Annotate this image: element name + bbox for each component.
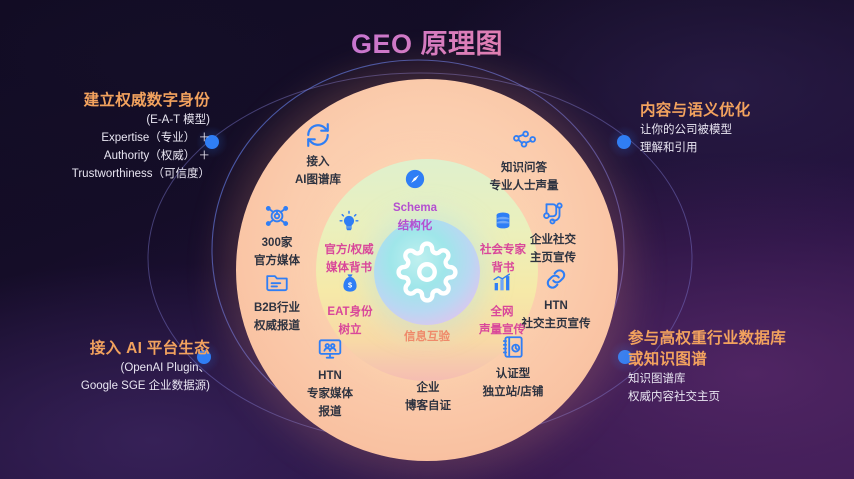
graph-icon [470, 128, 578, 156]
database-icon [449, 210, 557, 238]
side-line: 知识图谱库 [628, 370, 850, 388]
sync-icon [264, 122, 372, 150]
node-label: 认证型 独立站/店铺 [483, 368, 544, 398]
node-label: 300家 官方媒体 [254, 237, 300, 267]
notebook-icon [459, 334, 567, 362]
node-verified-store[interactable]: 认证型 独立站/店铺 [459, 334, 567, 400]
svg-text:$: $ [348, 281, 352, 290]
side-line: (OpenAI Plugin、 [10, 359, 210, 377]
node-label: 官方/权威 媒体背书 [324, 244, 373, 274]
node-expert-endorse[interactable]: 社会专家 背书 [449, 210, 557, 276]
node-label: B2B行业 权威报道 [254, 302, 300, 332]
node-media-endorse[interactable]: 官方/权威 媒体背书 [295, 210, 403, 276]
side-block-top-left: 建立权威数字身份 (E-A-T 模型) Expertise（专业） ＋ Auth… [10, 90, 210, 183]
compass-icon [361, 168, 469, 196]
side-block-bottom-right: 参与高权重行业数据库 或知识图谱 知识图谱库 权威内容社交主页 [628, 328, 850, 406]
side-line: (E-A-T 模型) [10, 111, 210, 129]
side-line: Google SGE 企业数据源) [10, 377, 210, 395]
node-knowledge-qa[interactable]: 知识问答 专业人士声量 [470, 128, 578, 194]
node-label: EAT身份 树立 [327, 306, 372, 336]
node-htn-expert[interactable]: HTN 专家媒体 报道 [276, 336, 384, 420]
side-line: 理解和引用 [640, 139, 850, 157]
side-heading: 参与高权重行业数据库 或知识图谱 [628, 328, 850, 370]
side-heading: 接入 AI 平台生态 [10, 338, 210, 359]
side-line: Expertise（专业） ＋ [10, 129, 210, 147]
side-heading: 内容与语义优化 [640, 100, 850, 121]
side-line: Authority（权威） ＋ [10, 147, 210, 165]
node-label: HTN 专家媒体 报道 [307, 370, 353, 418]
bulb-icon [295, 210, 403, 238]
geo-diagram-canvas: GEO 原理图 [0, 0, 854, 479]
monitor-icon [276, 336, 384, 364]
side-line: 让你的公司被模型 [640, 121, 850, 139]
side-line: 权威内容社交主页 [628, 388, 850, 406]
node-voice-volume[interactable]: 全网 声量宣传 [448, 272, 556, 338]
side-line: Trustworthiness（可信度） [10, 165, 210, 183]
orbit-dot-top-right [608, 126, 640, 158]
moneybag-icon: $ [296, 272, 404, 300]
node-eat-identity[interactable]: $ EAT身份 树立 [296, 272, 404, 338]
side-heading: 建立权威数字身份 [10, 90, 210, 111]
node-label: 社会专家 背书 [480, 244, 526, 274]
node-label: 企业 博客自证 [405, 382, 451, 412]
side-block-top-right: 内容与语义优化 让你的公司被模型 理解和引用 [640, 100, 850, 157]
chart-icon [448, 272, 556, 300]
side-block-bottom-left: 接入 AI 平台生态 (OpenAI Plugin、 Google SGE 企业… [10, 338, 210, 395]
node-label: 接入 AI图谱库 [295, 156, 341, 186]
node-label: 知识问答 专业人士声量 [490, 162, 559, 192]
node-ai-graph[interactable]: 接入 AI图谱库 [264, 122, 372, 188]
node-label: 全网 声量宣传 [479, 306, 525, 336]
